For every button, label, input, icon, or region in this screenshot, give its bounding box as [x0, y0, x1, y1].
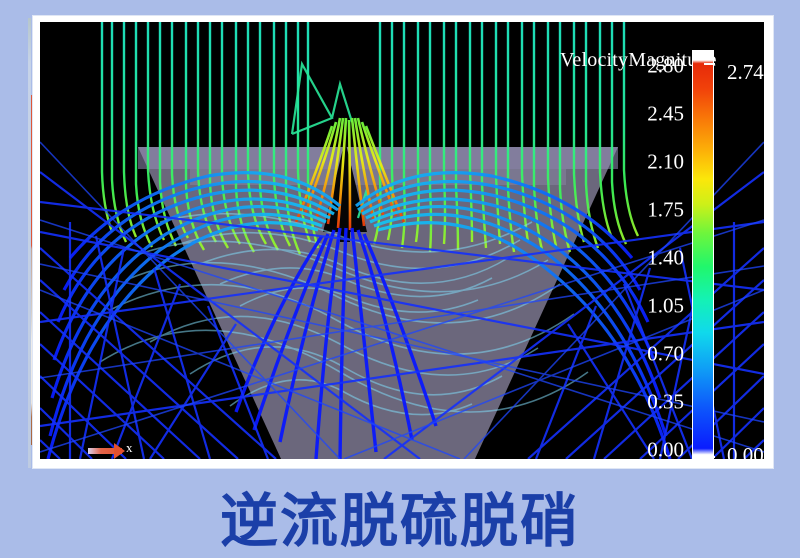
colorbar[interactable] [692, 50, 714, 459]
screenshot-root: x VelocityMagnitude 2.74 0.00 2.802.452.… [0, 0, 800, 542]
colorbar-tick-label: 1.05 [647, 294, 684, 319]
render-viewport[interactable]: x VelocityMagnitude 2.74 0.00 2.802.452.… [40, 22, 764, 459]
figure-caption: 逆流脱硫脱硝 [0, 474, 800, 558]
colorbar-tick-label: 2.10 [647, 150, 684, 175]
colorbar-tick-label: 0.70 [647, 342, 684, 367]
colorbar-tick-labels: 2.802.452.101.751.401.050.700.350.00 [612, 50, 684, 459]
colorbar-tick-label: 0.00 [647, 438, 684, 460]
colorbar-tick-label: 0.35 [647, 390, 684, 415]
axis-indicator: x [88, 440, 136, 459]
colorbar-min-annotation: 0.00 [727, 443, 764, 459]
colorbar-min-tick [704, 456, 715, 458]
colorbar-tick-label: 1.40 [647, 246, 684, 271]
colorbar-gradient [692, 50, 714, 459]
colorbar-tick-label: 2.80 [647, 54, 684, 79]
x-axis-label: x [126, 440, 133, 456]
colorbar-tick-label: 2.45 [647, 102, 684, 127]
colorbar-max-annotation: 2.74 [727, 60, 764, 85]
colorbar-tick-label: 1.75 [647, 198, 684, 223]
colorbar-max-tick [704, 63, 715, 65]
x-axis-arrowhead-icon [114, 443, 125, 459]
